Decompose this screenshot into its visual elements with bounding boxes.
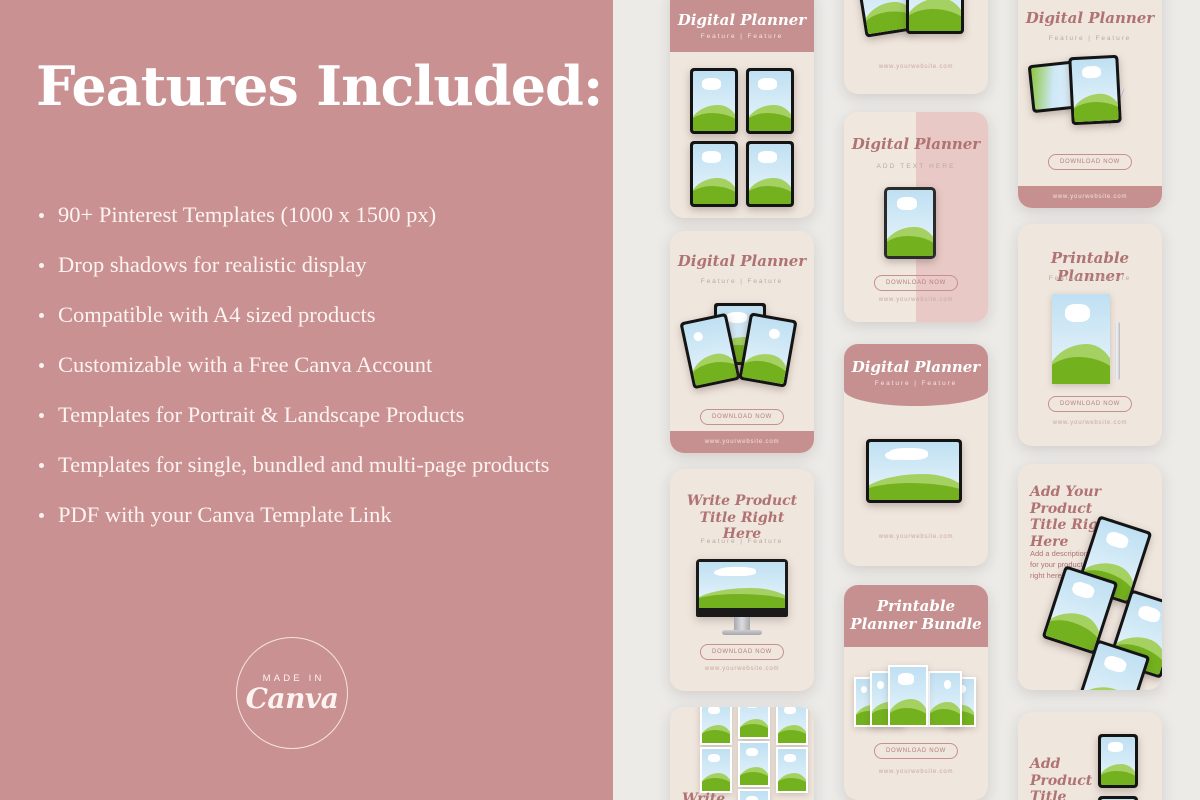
pin-digital-planner-split[interactable]: Digital Planner ADD TEXT HERE DOWNLOAD N…: [844, 112, 988, 322]
pin-subtitle: Feature | Feature: [1018, 275, 1162, 282]
features-list: 90+ Pinterest Templates (1000 x 1500 px)…: [36, 190, 606, 540]
tablet-mockup: [1098, 734, 1138, 788]
paper-sheet: [1052, 294, 1110, 384]
paper-sheet: [700, 707, 732, 745]
tablet-mockup: [884, 187, 936, 259]
list-item: 90+ Pinterest Templates (1000 x 1500 px): [36, 190, 606, 240]
pin-subtitle: ADD TEXT HERE: [844, 163, 988, 170]
pin-subtitle: Feature | Feature: [875, 380, 957, 387]
pin-header-band: Digital Planner Feature | Feature: [670, 0, 814, 52]
tablet-mockup-right: [738, 312, 797, 387]
tablet-mockup: [1098, 796, 1138, 800]
page-title: Features Included:: [36, 58, 602, 115]
pin-digital-planner-fan[interactable]: Digital Planner Feature | Feature DOWNLO…: [670, 231, 814, 453]
pin-digital-planner-grid[interactable]: Digital Planner Feature | Feature: [670, 0, 814, 218]
list-item: Customizable with a Free Canva Account: [36, 340, 606, 390]
paper-sheet: [738, 741, 770, 787]
list-item: PDF with your Canva Template Link: [36, 490, 606, 540]
pin-header-band: Printable Planner Bundle: [844, 585, 988, 647]
paper-sheet: [738, 707, 770, 739]
pin-tablets-top[interactable]: www.yourwebsite.com: [844, 0, 988, 94]
website-label: www.yourwebsite.com: [670, 666, 814, 672]
website-label: www.yourwebsite.com: [705, 439, 780, 445]
paper-sheet: [700, 747, 732, 793]
paper-sheet: [776, 747, 808, 793]
pin-digital-planner-curved[interactable]: Digital Planner Feature | Feature www.yo…: [844, 344, 988, 566]
tablet-mockup-front: [1068, 55, 1121, 126]
list-item: Compatible with A4 sized products: [36, 290, 606, 340]
paper-sheet: [928, 671, 962, 727]
pin-write-product-title-imac[interactable]: Write Product Title Right Here Feature |…: [670, 469, 814, 691]
pin-title: Add Product Title Right: [1030, 756, 1096, 800]
tablet-mockup: [690, 68, 738, 134]
pin-subtitle: Feature | Feature: [701, 33, 783, 40]
badge-brand-label: Canva: [246, 685, 339, 713]
pin-subtitle: Feature | Feature: [670, 538, 814, 545]
website-label: www.yourwebsite.com: [1018, 420, 1162, 426]
paper-sheet-front: [888, 665, 928, 727]
pin-title: Write: [682, 791, 725, 800]
pin-title: Digital Planner: [670, 253, 814, 271]
download-now-button[interactable]: DOWNLOAD NOW: [874, 743, 958, 759]
download-now-button[interactable]: DOWNLOAD NOW: [700, 409, 784, 425]
pin-digital-planner-tablets[interactable]: Digital Planner Feature | Feature DOWNLO…: [1018, 0, 1162, 208]
download-now-button[interactable]: DOWNLOAD NOW: [1048, 396, 1132, 412]
tablet-mockup: [906, 0, 964, 34]
download-now-button[interactable]: DOWNLOAD NOW: [1048, 154, 1132, 170]
pin-header-band: Digital Planner Feature | Feature: [844, 344, 988, 406]
pin-title: Printable Planner Bundle: [844, 598, 988, 633]
list-item: Templates for Portrait & Landscape Produ…: [36, 390, 606, 440]
pin-subtitle: Feature | Feature: [670, 278, 814, 285]
imac-neck: [734, 617, 750, 631]
download-now-button[interactable]: DOWNLOAD NOW: [700, 644, 784, 660]
list-item: Drop shadows for realistic display: [36, 240, 606, 290]
pin-add-your-product-title[interactable]: Add Your Product Title Right Here Add a …: [1018, 464, 1162, 690]
website-label: www.yourwebsite.com: [844, 769, 988, 775]
pin-printable-planner-bundle[interactable]: Printable Planner Bundle DOWNLOAD NOW ww…: [844, 585, 988, 800]
tablet-mockup: [746, 68, 794, 134]
paper-sheet: [738, 789, 770, 800]
website-label: www.yourwebsite.com: [844, 64, 988, 70]
poster-root: Features Included: 90+ Pinterest Templat…: [0, 0, 1200, 800]
pin-write-bottom[interactable]: Write: [670, 707, 814, 800]
website-label: www.yourwebsite.com: [844, 534, 988, 540]
pin-footer-bar: www.yourwebsite.com: [1018, 186, 1162, 208]
pen: [1115, 322, 1120, 380]
pin-printable-planner-pen[interactable]: Printable Planner Feature | Feature DOWN…: [1018, 224, 1162, 446]
download-now-button[interactable]: DOWNLOAD NOW: [874, 275, 958, 291]
pin-footer-bar: www.yourwebsite.com: [670, 431, 814, 453]
made-in-canva-badge: MADE IN Canva: [236, 637, 348, 749]
pin-title: Digital Planner: [1018, 10, 1162, 28]
pin-title: Digital Planner: [852, 359, 980, 377]
imac-mockup: [696, 559, 788, 617]
imac-base: [722, 630, 762, 635]
pin-add-product-title-bottom[interactable]: Add Product Title Right: [1018, 712, 1162, 800]
list-item: Templates for single, bundled and multi-…: [36, 440, 606, 490]
pin-subtitle: Feature | Feature: [1018, 35, 1162, 42]
paper-sheet: [776, 707, 808, 745]
pin-title: Digital Planner: [678, 12, 806, 30]
features-panel: Features Included: 90+ Pinterest Templat…: [0, 0, 613, 800]
templates-preview-panel: Digital Planner Feature | Feature: [613, 0, 1200, 800]
tablet-mockup: [746, 141, 794, 207]
pin-title: Write Product Title Right Here: [680, 493, 804, 543]
website-label: www.yourwebsite.com: [844, 297, 988, 303]
tablet-landscape-mockup: [866, 439, 962, 503]
website-label: www.yourwebsite.com: [1053, 194, 1128, 200]
tablet-mockup: [690, 141, 738, 207]
pin-title: Digital Planner: [844, 136, 988, 154]
